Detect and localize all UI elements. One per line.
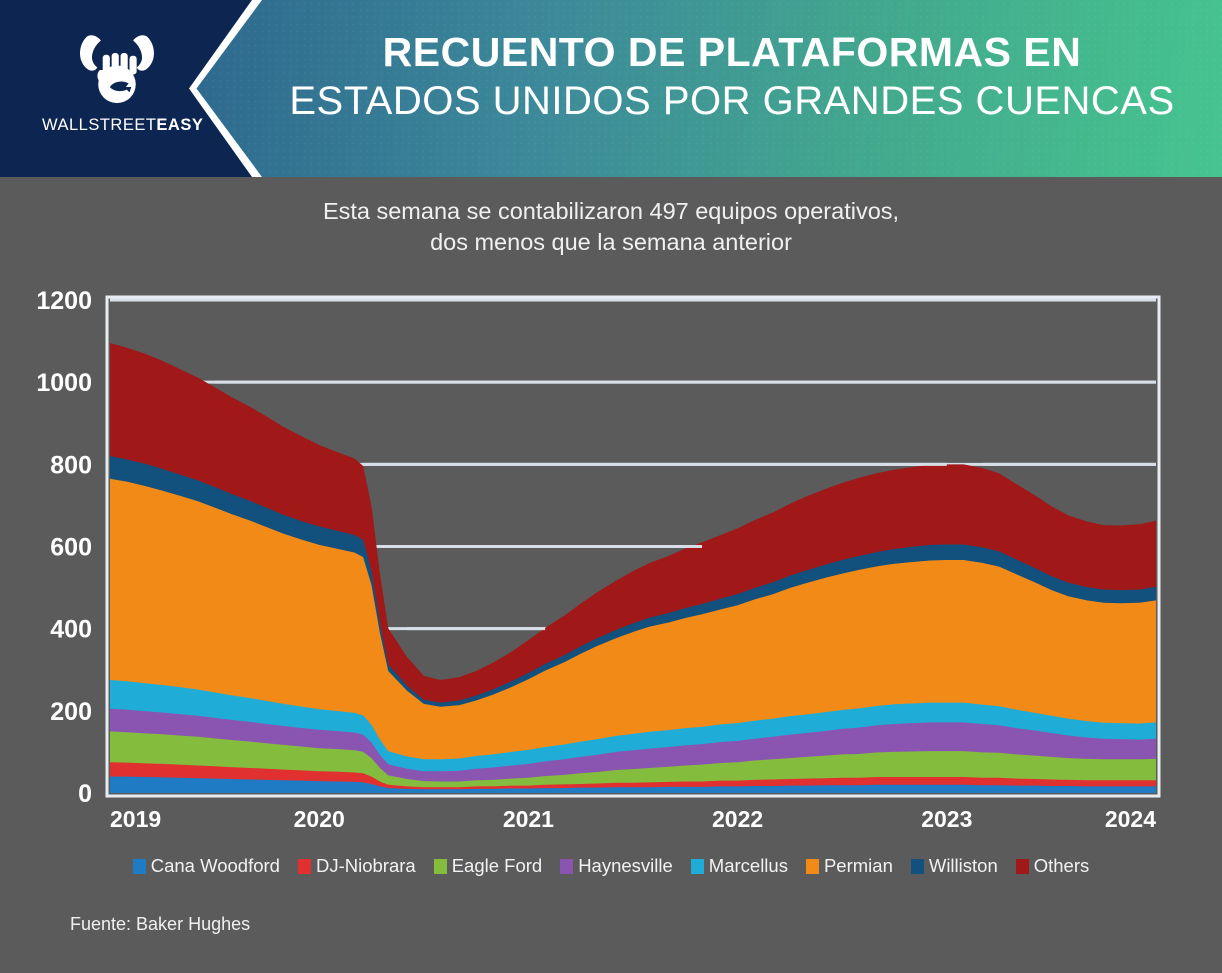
stacked-area-chart: 0200400600800100012002019202020212022202… bbox=[0, 290, 1222, 850]
legend-item[interactable]: Marcellus bbox=[691, 855, 788, 877]
legend-swatch-icon bbox=[691, 859, 704, 874]
y-axis-tick-label: 600 bbox=[50, 534, 92, 562]
chart-subtitle-line2: dos menos que la semana anterior bbox=[0, 227, 1222, 258]
y-axis-tick-label: 400 bbox=[50, 616, 92, 644]
legend-item[interactable]: Cana Woodford bbox=[133, 855, 280, 877]
legend-item-label: Others bbox=[1034, 855, 1090, 877]
bull-fist-logo-icon bbox=[63, 28, 171, 112]
legend-swatch-icon bbox=[806, 859, 819, 874]
legend-item[interactable]: Permian bbox=[806, 855, 893, 877]
x-axis-tick-label: 2021 bbox=[503, 806, 554, 832]
x-axis-tick-label: 2024 bbox=[1105, 806, 1156, 832]
legend-item[interactable]: Others bbox=[1016, 855, 1090, 877]
legend-item-label: Marcellus bbox=[709, 855, 788, 877]
legend-item-label: Williston bbox=[929, 855, 998, 877]
legend-item[interactable]: DJ-Niobrara bbox=[298, 855, 416, 877]
y-axis-tick-label: 200 bbox=[50, 698, 92, 726]
brand-logo[interactable]: WALLSTREETEASY bbox=[42, 28, 192, 148]
legend-swatch-icon bbox=[133, 859, 146, 874]
legend-swatch-icon bbox=[911, 859, 924, 874]
y-axis-tick-label: 800 bbox=[50, 451, 92, 479]
y-axis-tick-label: 0 bbox=[78, 780, 92, 808]
x-axis-tick-label: 2023 bbox=[921, 806, 972, 832]
legend-item-label: Haynesville bbox=[578, 855, 673, 877]
x-axis-tick-label: 2019 bbox=[110, 806, 161, 832]
legend-swatch-icon bbox=[434, 859, 447, 874]
chart-container: 0200400600800100012002019202020212022202… bbox=[0, 290, 1222, 850]
x-axis-tick-label: 2022 bbox=[712, 806, 763, 832]
y-axis-tick-label: 1200 bbox=[36, 290, 92, 315]
header-title-block: RECUENTO DE PLATAFORMAS EN ESTADOS UNIDO… bbox=[252, 30, 1212, 125]
y-axis-tick-label: 1000 bbox=[36, 369, 92, 397]
legend-item-label: Permian bbox=[824, 855, 893, 877]
legend-item[interactable]: Haynesville bbox=[560, 855, 673, 877]
source-note: Fuente: Baker Hughes bbox=[70, 914, 250, 935]
legend-swatch-icon bbox=[560, 859, 573, 874]
chart-legend: Cana WoodfordDJ-NiobraraEagle FordHaynes… bbox=[0, 855, 1222, 877]
brand-wordmark: WALLSTREETEASY bbox=[42, 116, 192, 135]
legend-item-label: DJ-Niobrara bbox=[316, 855, 416, 877]
x-axis-tick-label: 2020 bbox=[294, 806, 345, 832]
page-title-primary: RECUENTO DE PLATAFORMAS EN bbox=[252, 30, 1212, 76]
legend-item[interactable]: Eagle Ford bbox=[434, 855, 543, 877]
legend-item-label: Eagle Ford bbox=[452, 855, 543, 877]
brand-wordmark-light: WALLSTREET bbox=[42, 116, 156, 134]
legend-swatch-icon bbox=[1016, 859, 1029, 874]
infographic-page: WALLSTREETEASY RECUENTO DE PLATAFORMAS E… bbox=[0, 0, 1222, 973]
legend-swatch-icon bbox=[298, 859, 311, 874]
chart-subtitle-line1: Esta semana se contabilizaron 497 equipo… bbox=[0, 196, 1222, 227]
page-title-secondary: ESTADOS UNIDOS POR GRANDES CUENCAS bbox=[252, 78, 1212, 125]
header-banner: WALLSTREETEASY RECUENTO DE PLATAFORMAS E… bbox=[0, 0, 1222, 177]
legend-item-label: Cana Woodford bbox=[151, 855, 280, 877]
brand-wordmark-bold: EASY bbox=[156, 116, 203, 134]
chart-subtitle: Esta semana se contabilizaron 497 equipo… bbox=[0, 196, 1222, 258]
legend-item[interactable]: Williston bbox=[911, 855, 998, 877]
